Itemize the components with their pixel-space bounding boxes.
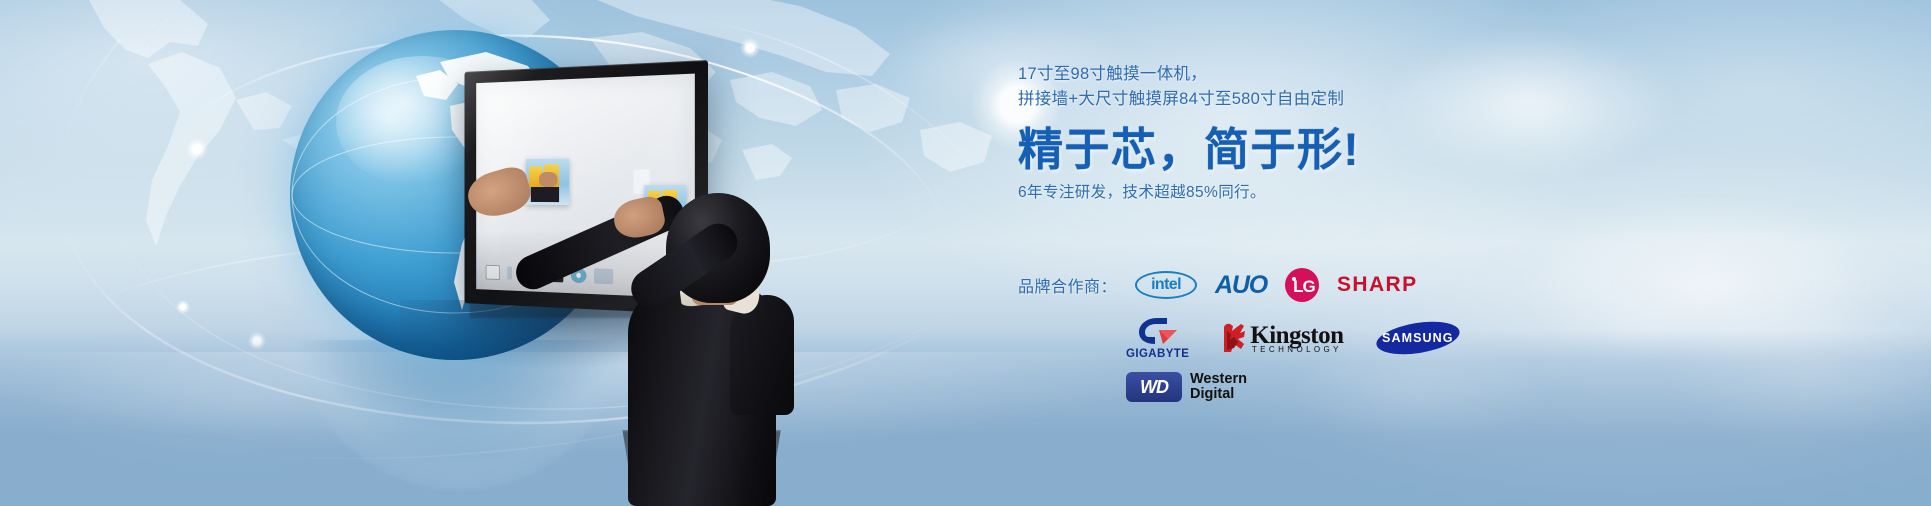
kingston-logo: Kingston TECHNOLOGY	[1221, 322, 1343, 354]
lg-logo: LG	[1285, 268, 1319, 302]
intel-logo-text: intel	[1151, 276, 1181, 294]
sparkle	[740, 38, 760, 58]
partner-row-3: WD Western Digital	[1018, 372, 1618, 402]
subheading-line-2: 拼接墙+大尺寸触摸屏84寸至580寸自由定制	[1018, 87, 1578, 112]
samsung-logo-text: SAMSUNG	[1382, 331, 1454, 345]
western-digital-logo: WD Western Digital	[1126, 372, 1247, 402]
auo-logo: AUO	[1215, 271, 1267, 300]
wd-mark-text: WD	[1140, 377, 1168, 398]
promo-banner: 17寸至98寸触摸一体机， 拼接墙+大尺寸触摸屏84寸至580寸自由定制 精于芯…	[0, 0, 1931, 506]
tagline: 6年专注研发，技术超越85%同行。	[1018, 180, 1578, 202]
kingston-logo-text: Kingston	[1250, 323, 1343, 348]
partner-row-1: 品牌合作商： intel AUO LG SHARP	[1018, 268, 1618, 302]
sparkle	[186, 138, 208, 160]
kingston-logo-subtext: TECHNOLOGY	[1250, 346, 1343, 354]
wd-mark-icon: WD	[1126, 372, 1182, 402]
page-title: 精于芯，简于形!	[1018, 124, 1578, 176]
floor-sheen	[0, 352, 1931, 506]
sparkle	[176, 300, 190, 314]
person-using-touchscreen	[530, 155, 860, 506]
kingston-mark-icon	[1221, 322, 1247, 354]
lg-logo-text: LG	[1293, 278, 1315, 295]
banner-copy: 17寸至98寸触摸一体机， 拼接墙+大尺寸触摸屏84寸至580寸自由定制 精于芯…	[1018, 62, 1578, 202]
gigabyte-logo: GIGABYTE	[1126, 316, 1189, 360]
samsung-logo: SAMSUNG	[1374, 317, 1462, 360]
partners-label: 品牌合作商：	[1018, 273, 1117, 297]
wd-logo-line-1: Western	[1190, 372, 1247, 387]
gigabyte-logo-text: GIGABYTE	[1126, 348, 1189, 360]
partner-row-2: GIGABYTE Kingston TECHNOLOGY SAMSUNG	[1018, 316, 1618, 360]
brand-partners: 品牌合作商： intel AUO LG SHARP GIGA	[1018, 268, 1618, 402]
sharp-logo: SHARP	[1337, 273, 1418, 297]
subheading-line-1: 17寸至98寸触摸一体机，	[1018, 62, 1578, 87]
gigabyte-mark-icon	[1137, 316, 1179, 346]
intel-logo: intel	[1135, 271, 1197, 299]
wd-logo-line-2: Digital	[1190, 387, 1247, 402]
